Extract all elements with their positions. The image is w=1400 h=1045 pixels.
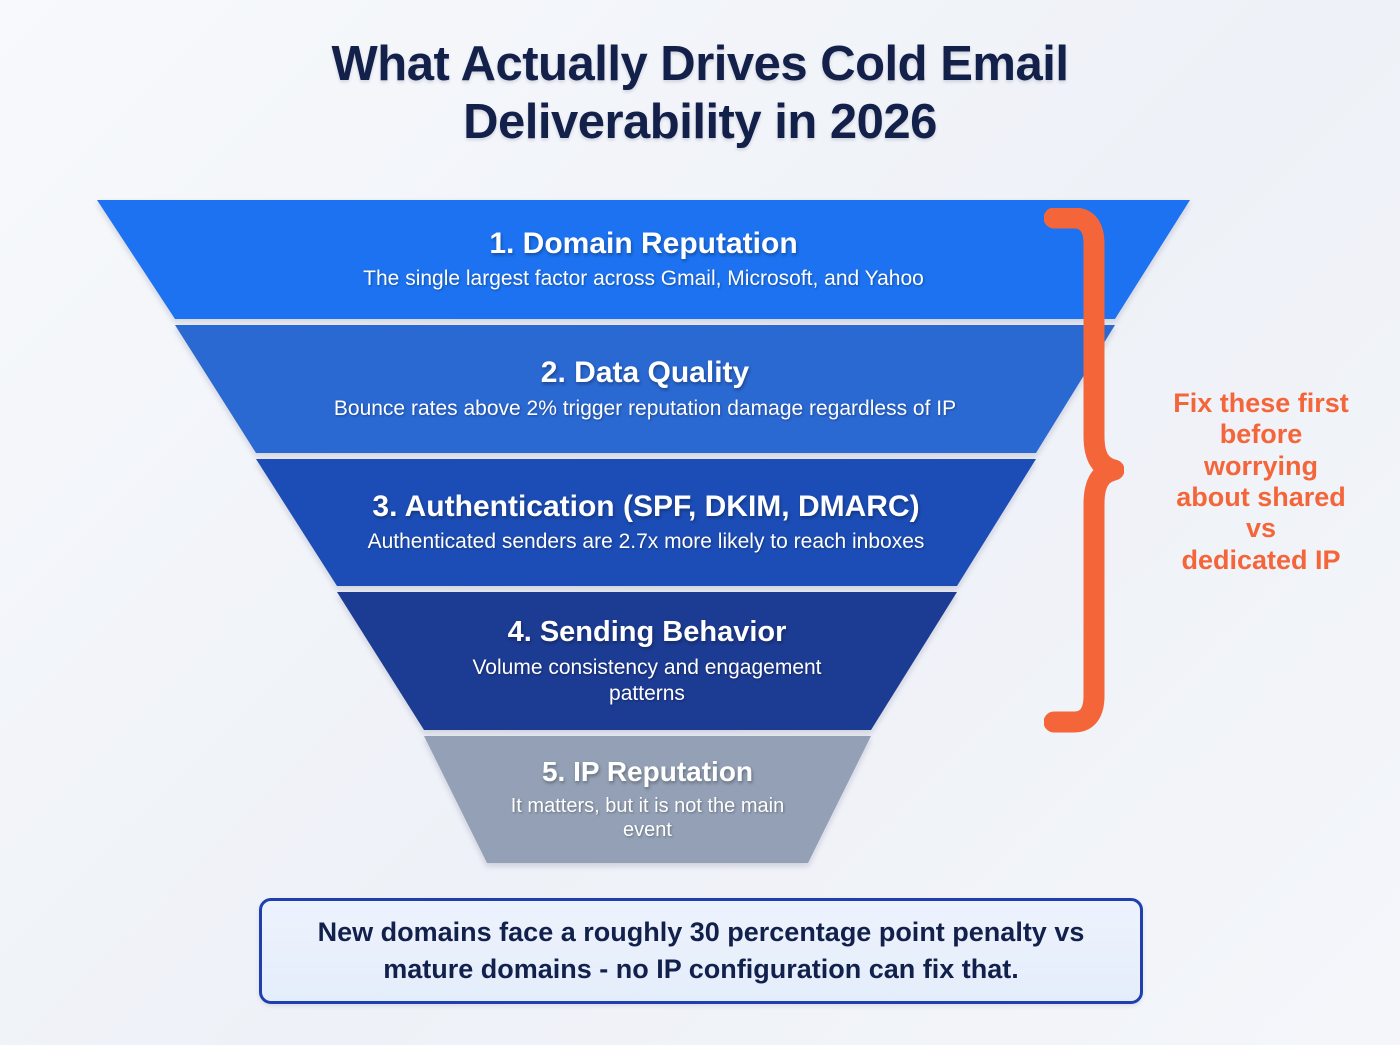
funnel-slice-4[interactable]: 4. Sending Behavior Volume consistency a… xyxy=(337,592,957,730)
annotation-line-6: dedicated IP xyxy=(1135,545,1387,576)
funnel-slice-2[interactable]: 2. Data Quality Bounce rates above 2% tr… xyxy=(175,325,1115,453)
funnel-slice-3[interactable]: 3. Authentication (SPF, DKIM, DMARC) Aut… xyxy=(256,459,1036,586)
funnel-slice-1-subtitle: The single largest factor across Gmail, … xyxy=(363,266,924,292)
bottom-callout-line-1: New domains face a roughly 30 percentage… xyxy=(318,914,1085,951)
funnel-slice-5[interactable]: 5. IP Reputation It matters, but it is n… xyxy=(424,736,871,863)
funnel-slice-4-title: 4. Sending Behavior xyxy=(508,616,787,648)
bottom-callout-box: New domains face a roughly 30 percentage… xyxy=(259,898,1143,1004)
curly-brace-right-icon xyxy=(1044,208,1124,742)
funnel-slice-1-title: 1. Domain Reputation xyxy=(489,227,797,261)
annotation-fix-these-first: Fix these first before worrying about sh… xyxy=(1135,388,1387,576)
annotation-line-3: worrying xyxy=(1135,451,1387,482)
funnel-slice-5-title: 5. IP Reputation xyxy=(542,756,753,787)
funnel-slice-5-subtitle: It matters, but it is not the main event xyxy=(498,794,798,843)
funnel-slice-2-subtitle: Bounce rates above 2% trigger reputation… xyxy=(334,396,956,422)
funnel-slice-1[interactable]: 1. Domain Reputation The single largest … xyxy=(97,200,1190,319)
funnel-slice-2-title: 2. Data Quality xyxy=(541,356,749,390)
bottom-callout-line-2: mature domains - no IP configuration can… xyxy=(383,951,1019,988)
annotation-line-4: about shared xyxy=(1135,482,1387,513)
funnel-slice-3-subtitle: Authenticated senders are 2.7x more like… xyxy=(368,529,925,555)
funnel-slice-4-subtitle: Volume consistency and engagement patter… xyxy=(437,655,857,706)
annotation-line-2: before xyxy=(1135,419,1387,450)
annotation-line-1: Fix these first xyxy=(1135,388,1387,419)
annotation-line-5: vs xyxy=(1135,513,1387,544)
funnel-slice-3-title: 3. Authentication (SPF, DKIM, DMARC) xyxy=(372,490,919,524)
